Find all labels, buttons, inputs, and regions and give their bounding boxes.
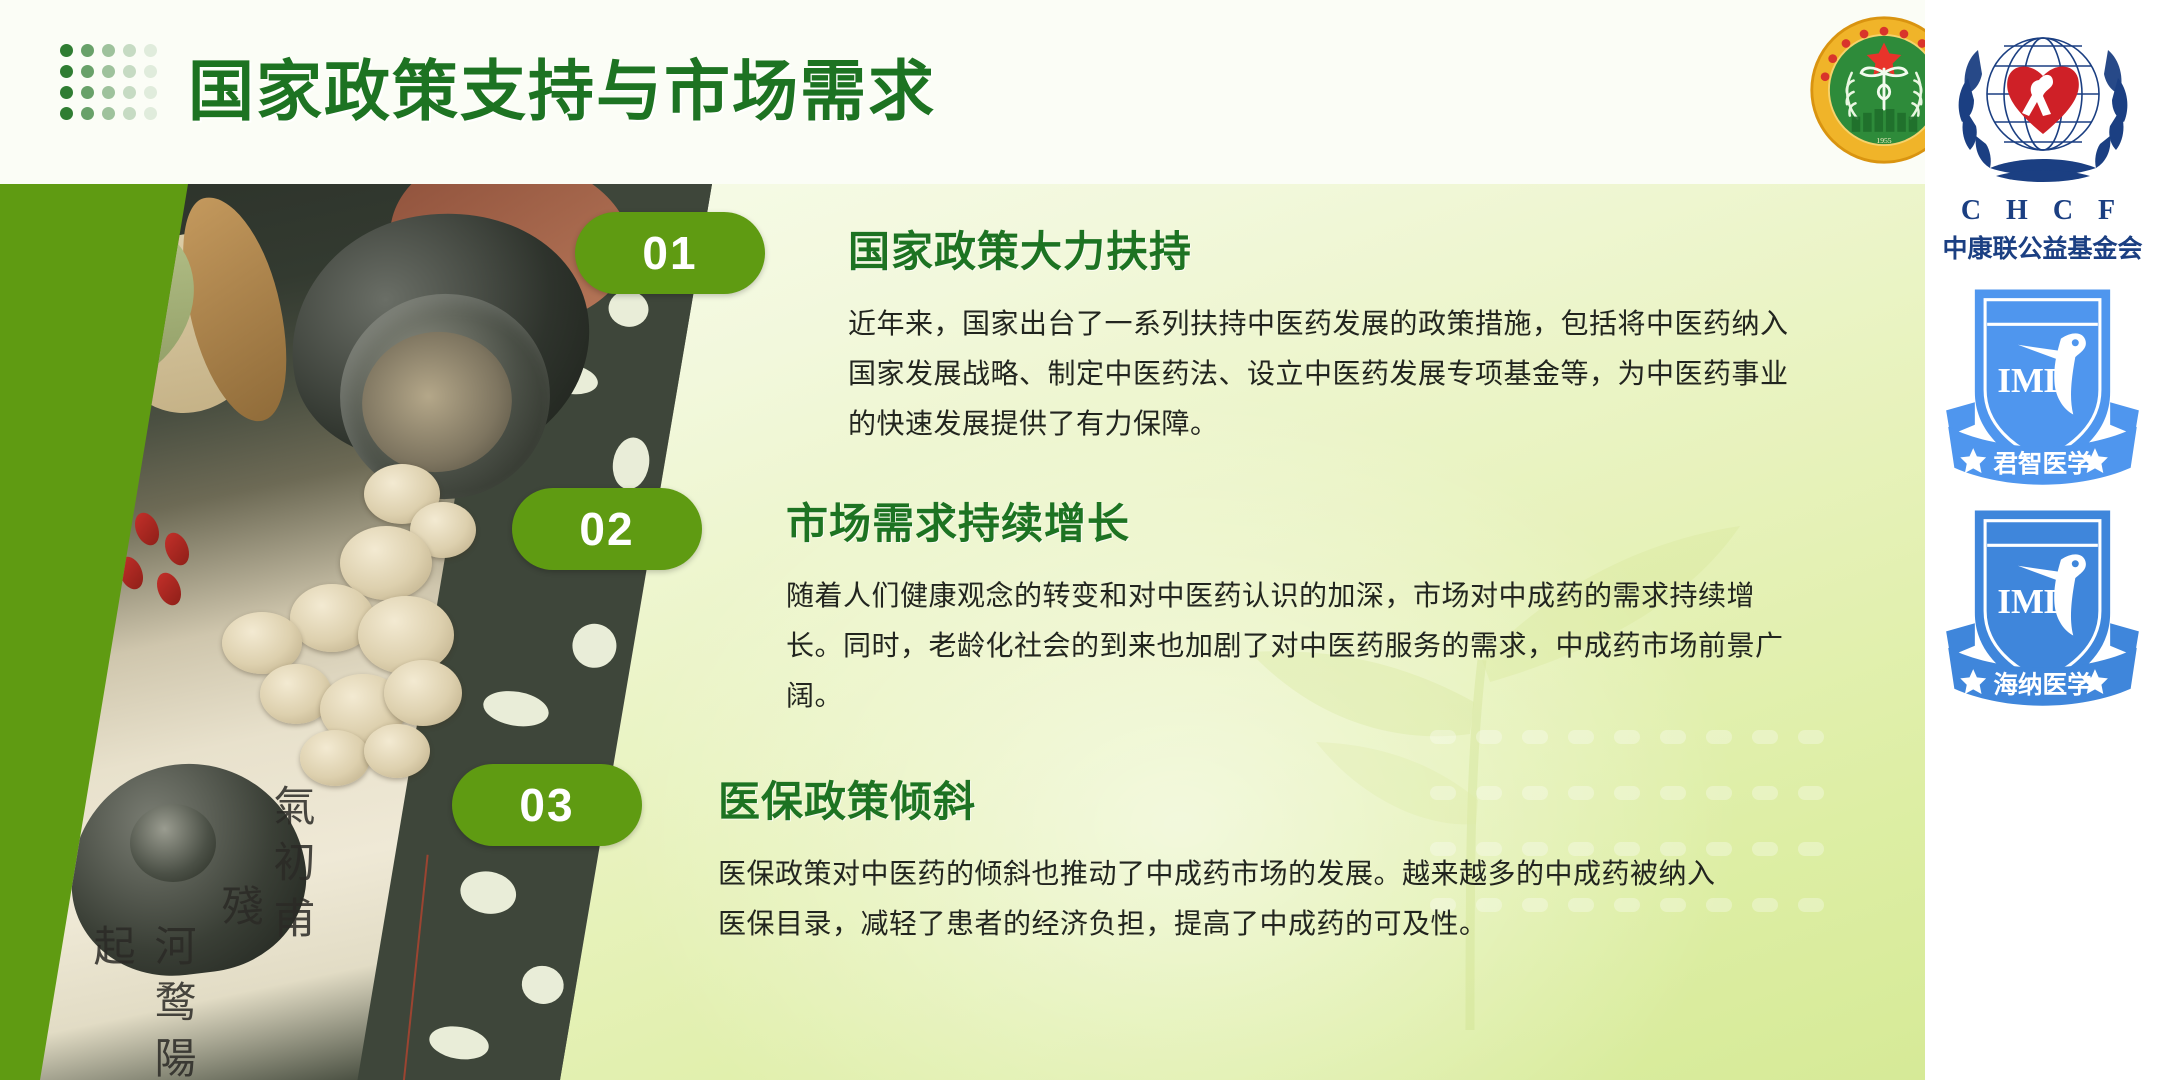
- globe-heart-laurel-icon: [1938, 6, 2148, 196]
- cupping-jar-knob: [130, 804, 216, 882]
- chcf-abbreviation: C H C F: [1938, 195, 2148, 227]
- section-heading-01: 国家政策大力扶持: [848, 218, 1808, 279]
- svg-text:1955: 1955: [1876, 136, 1891, 145]
- slide-header: 国家政策支持与市场需求: [0, 0, 1925, 184]
- section-heading-02: 市场需求持续增长: [786, 490, 1786, 551]
- imd-ribbon-label-2: 海纳医学: [1993, 670, 2091, 699]
- ginseng-slice: [364, 724, 430, 778]
- section-heading-03: 医保政策倾斜: [718, 768, 1718, 829]
- ginseng-slice: [300, 730, 370, 786]
- calligraphy-text: 河鹜陽起: [80, 924, 202, 1080]
- goji-berry: [160, 529, 193, 569]
- national-medicine-emblem-icon: 1955: [1808, 14, 1925, 166]
- dot-grid-decoration: [60, 44, 165, 128]
- section-block-01: 国家政策大力扶持 近年来，国家出台了一系列扶持中医药发展的政策措施，包括将中医药…: [848, 218, 1808, 448]
- slide-root: 河鹜陽起 殘 氣初甫 01 02 03 国家政策大力扶持 近年来，国家出台了一系…: [0, 0, 2160, 1080]
- section-body-01: 近年来，国家出台了一系列扶持中医药发展的政策措施，包括将中医药纳入国家发展战略、…: [848, 299, 1808, 448]
- page-title: 国家政策支持与市场需求: [188, 38, 936, 134]
- goji-berry: [130, 509, 163, 549]
- section-badge-03: 03: [452, 764, 642, 846]
- section-badge-02: 02: [512, 488, 702, 570]
- logo-chcf: C H C F 中康联公益基金会: [1938, 6, 2148, 265]
- section-body-03: 医保政策对中医药的倾斜也推动了中成药市场的发展。越来越多的中成药被纳入医保目录，…: [718, 849, 1718, 949]
- section-block-02: 市场需求持续增长 随着人们健康观念的转变和对中医药认识的加深，市场对中成药的需求…: [786, 490, 1786, 720]
- goji-berry: [152, 569, 185, 609]
- imd-ribbon-label-1: 君智医学: [1993, 449, 2091, 478]
- ginseng-slice: [384, 660, 462, 726]
- chcf-chinese-name: 中康联公益基金会: [1938, 229, 2148, 265]
- calligraphy-text: 氣初甫: [260, 784, 321, 952]
- logo-imd-haina: IMD 海纳医学: [1940, 492, 2145, 707]
- section-badge-01: 01: [575, 212, 765, 294]
- section-block-03: 医保政策倾斜 医保政策对中医药的倾斜也推动了中成药市场的发展。越来越多的中成药被…: [718, 768, 1718, 949]
- logo-imd-junzhi: IMD 君智医学: [1940, 271, 2145, 486]
- slide-canvas: 河鹜陽起 殘 氣初甫 01 02 03 国家政策大力扶持 近年来，国家出台了一系…: [0, 0, 1925, 1080]
- logo-rail: C H C F 中康联公益基金会 IMD 君智医学: [1925, 0, 2160, 1080]
- section-body-02: 随着人们健康观念的转变和对中医药认识的加深，市场对中成药的需求持续增长。同时，老…: [786, 571, 1786, 720]
- chcf-text-block: C H C F 中康联公益基金会: [1938, 195, 2148, 265]
